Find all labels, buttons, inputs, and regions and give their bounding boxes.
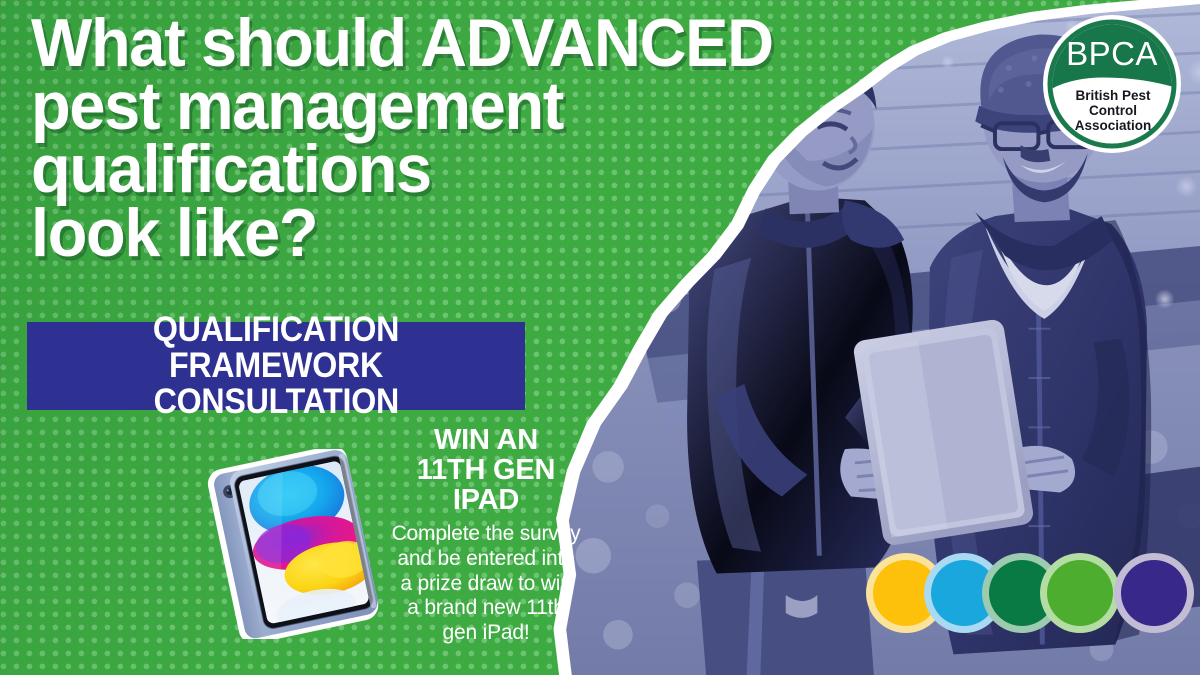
headline-line-2: pest management (31, 75, 776, 138)
prize-body-line-3: a prize draw to win (366, 572, 606, 597)
prize-body-line-2: and be entered into (366, 547, 606, 572)
bpca-acronym: BPCA (1066, 35, 1158, 72)
headline-line-1: What should ADVANCED (31, 12, 776, 75)
prize-title-line-3: IPAD (366, 485, 606, 515)
prize-block: WIN AN 11TH GEN IPAD Complete the survey… (206, 425, 606, 660)
brand-colour-circles (866, 553, 1196, 633)
colour-circle-green (1040, 553, 1120, 633)
banner-line-2: CONSULTATION (153, 384, 398, 420)
bpca-name-line-1: British Pest (1075, 88, 1151, 103)
prize-body-line-5: gen iPad! (366, 621, 606, 646)
prize-text: WIN AN 11TH GEN IPAD Complete the survey… (366, 425, 606, 645)
headline-line-3: qualifications (31, 138, 776, 201)
prize-title: WIN AN 11TH GEN IPAD (366, 425, 606, 515)
bpca-name-line-2: Control (1089, 103, 1137, 118)
headline-line-4: look like? (31, 202, 776, 265)
colour-circle-purple (1114, 553, 1194, 633)
bpca-logo-icon: BPCA British Pest Control Association (1042, 14, 1182, 154)
prize-title-line-2: 11TH GEN (366, 455, 606, 485)
prize-title-line-1: WIN AN (366, 425, 606, 455)
prize-body-line-1: Complete the survey (366, 522, 606, 547)
bpca-logo: BPCA British Pest Control Association (1042, 14, 1182, 154)
promotional-poster: What should ADVANCED pest management qua… (0, 0, 1200, 675)
prize-description: Complete the survey and be entered into … (366, 522, 606, 645)
ipad-illustration (206, 449, 386, 639)
ipad-icon (206, 449, 386, 639)
bpca-name-line-3: Association (1075, 118, 1152, 133)
banner-line-1: QUALIFICATION FRAMEWORK (47, 312, 505, 384)
headline: What should ADVANCED pest management qua… (31, 12, 776, 265)
prize-body-line-4: a brand new 11th (366, 596, 606, 621)
consultation-banner: QUALIFICATION FRAMEWORK CONSULTATION (27, 322, 525, 410)
